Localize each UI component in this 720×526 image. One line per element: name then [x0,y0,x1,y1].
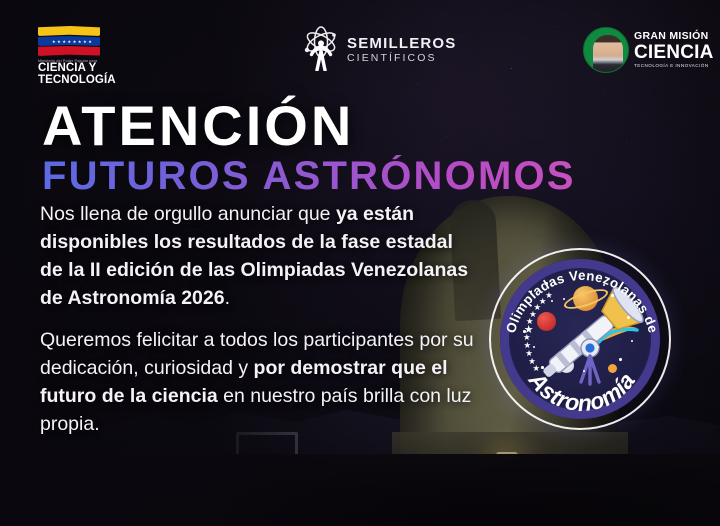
portrait-face [593,35,623,73]
badge-star-dot [627,316,630,319]
flag-red-band [38,46,100,56]
page-subtitle: FUTUROS ASTRÓNOMOS [42,155,576,197]
badge-star-glyph: ★ [524,325,534,336]
olympiad-badge: ★★★★★★★★★★★ Olimpiadas Venezolanas de As… [489,248,671,430]
p1-normal-2: . [225,287,230,309]
paragraph-1: Nos llena de orgullo anunciar que ya est… [40,200,476,312]
p1-normal-1: Nos llena de orgullo anunciar que [40,203,336,225]
badge-ring: ★★★★★★★★★★★ [500,259,660,419]
logo-mincyt: ★★★★★★★★ Ministerio del Poder Popular pa… [38,26,130,86]
badge-star-dot [541,366,544,369]
mincyt-pre-line: Ministerio del Poder Popular para [38,59,130,63]
gran-mision-line1: GRAN MISIÓN [634,31,714,42]
logo-bar: ★★★★★★★★ Ministerio del Poder Popular pa… [0,0,720,92]
mincyt-line1: CIENCIA Y [38,63,130,75]
gran-mision-line2: CIENCIA [634,43,714,62]
badge-star-glyph: ★ [525,349,533,358]
paragraph-2: Queremos felicitar a todos los participa… [40,326,476,438]
badge-star-dot [545,282,548,285]
semilleros-line1: SEMILLEROS [347,36,457,51]
gran-mision-line3: TECNOLOGÍA E INNOVACIÓN [634,64,714,69]
poster-root: ★★★★★★★★ Ministerio del Poder Popular pa… [0,0,720,526]
page-title: ATENCIÓN [42,98,354,154]
badge-star-glyph: ★ [524,341,532,350]
badge-star-dot [619,358,622,361]
flag-stars-icon: ★★★★★★★★ [52,38,88,46]
flag-yellow-band [38,26,100,36]
atom-person-icon [300,25,342,76]
body-copy: Nos llena de orgullo anunciar que ya est… [40,200,476,438]
venezuela-flag-icon: ★★★★★★★★ [38,26,100,56]
mincyt-line2: TECNOLOGÍA [38,75,130,87]
logo-semilleros: SEMILLEROS CIENTÍFICOS [300,24,450,76]
badge-field: ★★★★★★★★★★★ [511,270,649,408]
badge-star-glyph: ★ [545,291,553,300]
badge-star-glyph: ★ [528,357,536,366]
portrait-badge-icon [583,27,629,73]
badge-star-dot [611,294,614,297]
semilleros-line2: CIENTÍFICOS [347,53,457,64]
logo-gran-mision: GRAN MISIÓN CIENCIA TECNOLOGÍA E INNOVAC… [583,22,715,78]
